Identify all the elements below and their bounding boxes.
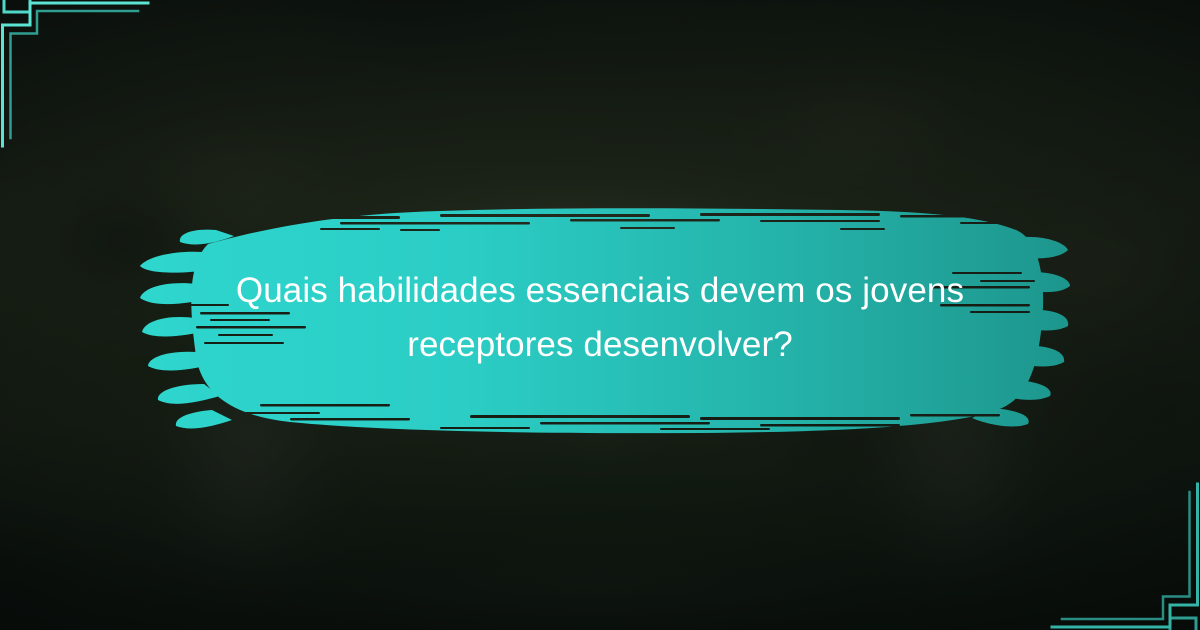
brush-stroke-banner [140, 186, 1070, 446]
social-card-canvas: Quais habilidades essenciais devem os jo… [0, 0, 1200, 630]
banner-fill [140, 186, 1070, 446]
